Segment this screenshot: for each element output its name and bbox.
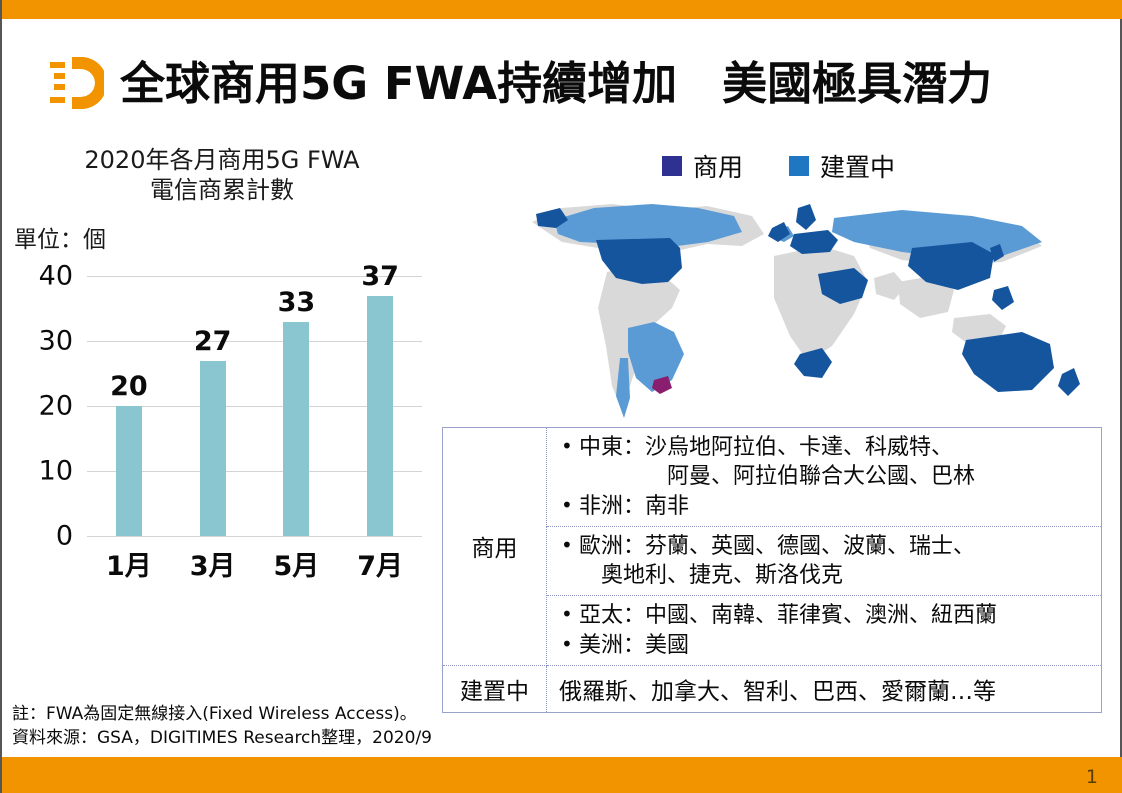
- bullet-list: 亞太：中國、南韓、菲律賓、澳洲、紐西蘭 美洲：美國: [559, 601, 1093, 660]
- bar-value-label: 33: [278, 287, 316, 318]
- legend-item-commercial[interactable]: 商用: [662, 148, 743, 184]
- x-axis-label: 7月: [338, 544, 422, 583]
- list-item: 非洲：南非: [559, 492, 1093, 521]
- bullet-list: 歐洲：芬蘭、英國、德國、波蘭、瑞士、 奧地利、捷克、斯洛伐克: [559, 532, 1093, 591]
- y-tick-label: 40: [39, 261, 73, 292]
- table-cell-regions: 亞太：中國、南韓、菲律賓、澳洲、紐西蘭 美洲：美國: [547, 596, 1102, 666]
- y-tick-label: 10: [39, 456, 73, 487]
- country-breakdown-table: 商用 中東：沙烏地阿拉伯、卡達、科威特、 阿曼、阿拉伯聯合大公國、巴林 非洲：南…: [442, 427, 1102, 713]
- world-map: [502, 186, 1102, 430]
- bar[interactable]: [367, 296, 393, 537]
- digitimes-logo-icon: [48, 53, 104, 113]
- chart-bars: 20273337: [87, 276, 422, 536]
- footnotes: 註：FWA為固定無線接入(Fixed Wireless Access)。 資料來…: [12, 702, 432, 751]
- list-item: 亞太：中國、南韓、菲律賓、澳洲、紐西蘭: [559, 601, 1093, 630]
- top-accent-band: [2, 0, 1122, 19]
- bar-value-label: 37: [361, 261, 399, 292]
- bar-slot: 27: [171, 276, 255, 536]
- bullet-list: 中東：沙烏地阿拉伯、卡達、科威特、 阿曼、阿拉伯聯合大公國、巴林 非洲：南非: [559, 433, 1093, 521]
- bar-value-label: 27: [194, 326, 232, 357]
- bottom-accent-band: [2, 757, 1122, 793]
- y-tick-label: 0: [56, 521, 73, 552]
- bar[interactable]: [200, 361, 226, 537]
- chart-unit-label: 單位：個: [14, 220, 106, 254]
- legend-item-deploying[interactable]: 建置中: [789, 148, 895, 184]
- table-cell-deploying-countries: 俄羅斯、加拿大、智利、巴西、愛爾蘭…等: [547, 665, 1102, 712]
- page-title: 全球商用5G FWA持續增加 美國極具潛力: [120, 61, 992, 106]
- bar-chart: 2020年各月商用5G FWA 電信商累計數 單位：個 40 30 20 10 …: [2, 140, 442, 600]
- x-axis-label: 3月: [171, 544, 255, 583]
- page-number: 1: [1086, 766, 1098, 788]
- list-item: 歐洲：芬蘭、英國、德國、波蘭、瑞士、 奧地利、捷克、斯洛伐克: [559, 532, 1093, 591]
- table-row: 建置中 俄羅斯、加拿大、智利、巴西、愛爾蘭…等: [443, 665, 1102, 712]
- x-axis-label: 1月: [87, 544, 171, 583]
- legend-label: 商用: [693, 148, 743, 184]
- table-row: 商用 中東：沙烏地阿拉伯、卡達、科威特、 阿曼、阿拉伯聯合大公國、巴林 非洲：南…: [443, 428, 1102, 527]
- bar-value-label: 20: [110, 371, 148, 402]
- footnote-definition: 註：FWA為固定無線接入(Fixed Wireless Access)。: [12, 702, 432, 727]
- chart-title: 2020年各月商用5G FWA 電信商累計數: [2, 140, 442, 205]
- legend-swatch-icon: [662, 156, 682, 176]
- y-tick-label: 20: [39, 391, 73, 422]
- slide-canvas: 全球商用5G FWA持續增加 美國極具潛力 2020年各月商用5G FWA 電信…: [0, 0, 1122, 793]
- list-item: 中東：沙烏地阿拉伯、卡達、科威特、 阿曼、阿拉伯聯合大公國、巴林: [559, 433, 1093, 492]
- bar-slot: 20: [87, 276, 171, 536]
- bar-slot: 33: [255, 276, 339, 536]
- table-cell-category-commercial: 商用: [443, 428, 547, 666]
- legend-label: 建置中: [820, 148, 895, 184]
- map-legend: 商用 建置中: [662, 148, 895, 184]
- chart-x-axis-labels: 1月3月5月7月: [87, 544, 422, 583]
- legend-swatch-icon: [789, 156, 809, 176]
- slide-header: 全球商用5G FWA持續增加 美國極具潛力: [2, 52, 1122, 114]
- x-axis-label: 5月: [255, 544, 339, 583]
- table-cell-category-deploying: 建置中: [443, 665, 547, 712]
- list-item: 美洲：美國: [559, 631, 1093, 660]
- table-cell-regions: 中東：沙烏地阿拉伯、卡達、科威特、 阿曼、阿拉伯聯合大公國、巴林 非洲：南非: [547, 428, 1102, 527]
- y-tick-label: 30: [39, 326, 73, 357]
- gridline-0: 0: [87, 536, 422, 537]
- bar[interactable]: [116, 406, 142, 536]
- bar[interactable]: [283, 322, 309, 537]
- bar-slot: 37: [338, 276, 422, 536]
- table-cell-regions: 歐洲：芬蘭、英國、德國、波蘭、瑞士、 奧地利、捷克、斯洛伐克: [547, 526, 1102, 596]
- footnote-source: 資料來源：GSA，DIGITIMES Research整理，2020/9: [12, 726, 432, 751]
- chart-plot-area: 40 30 20 10 0 20273337: [87, 276, 422, 536]
